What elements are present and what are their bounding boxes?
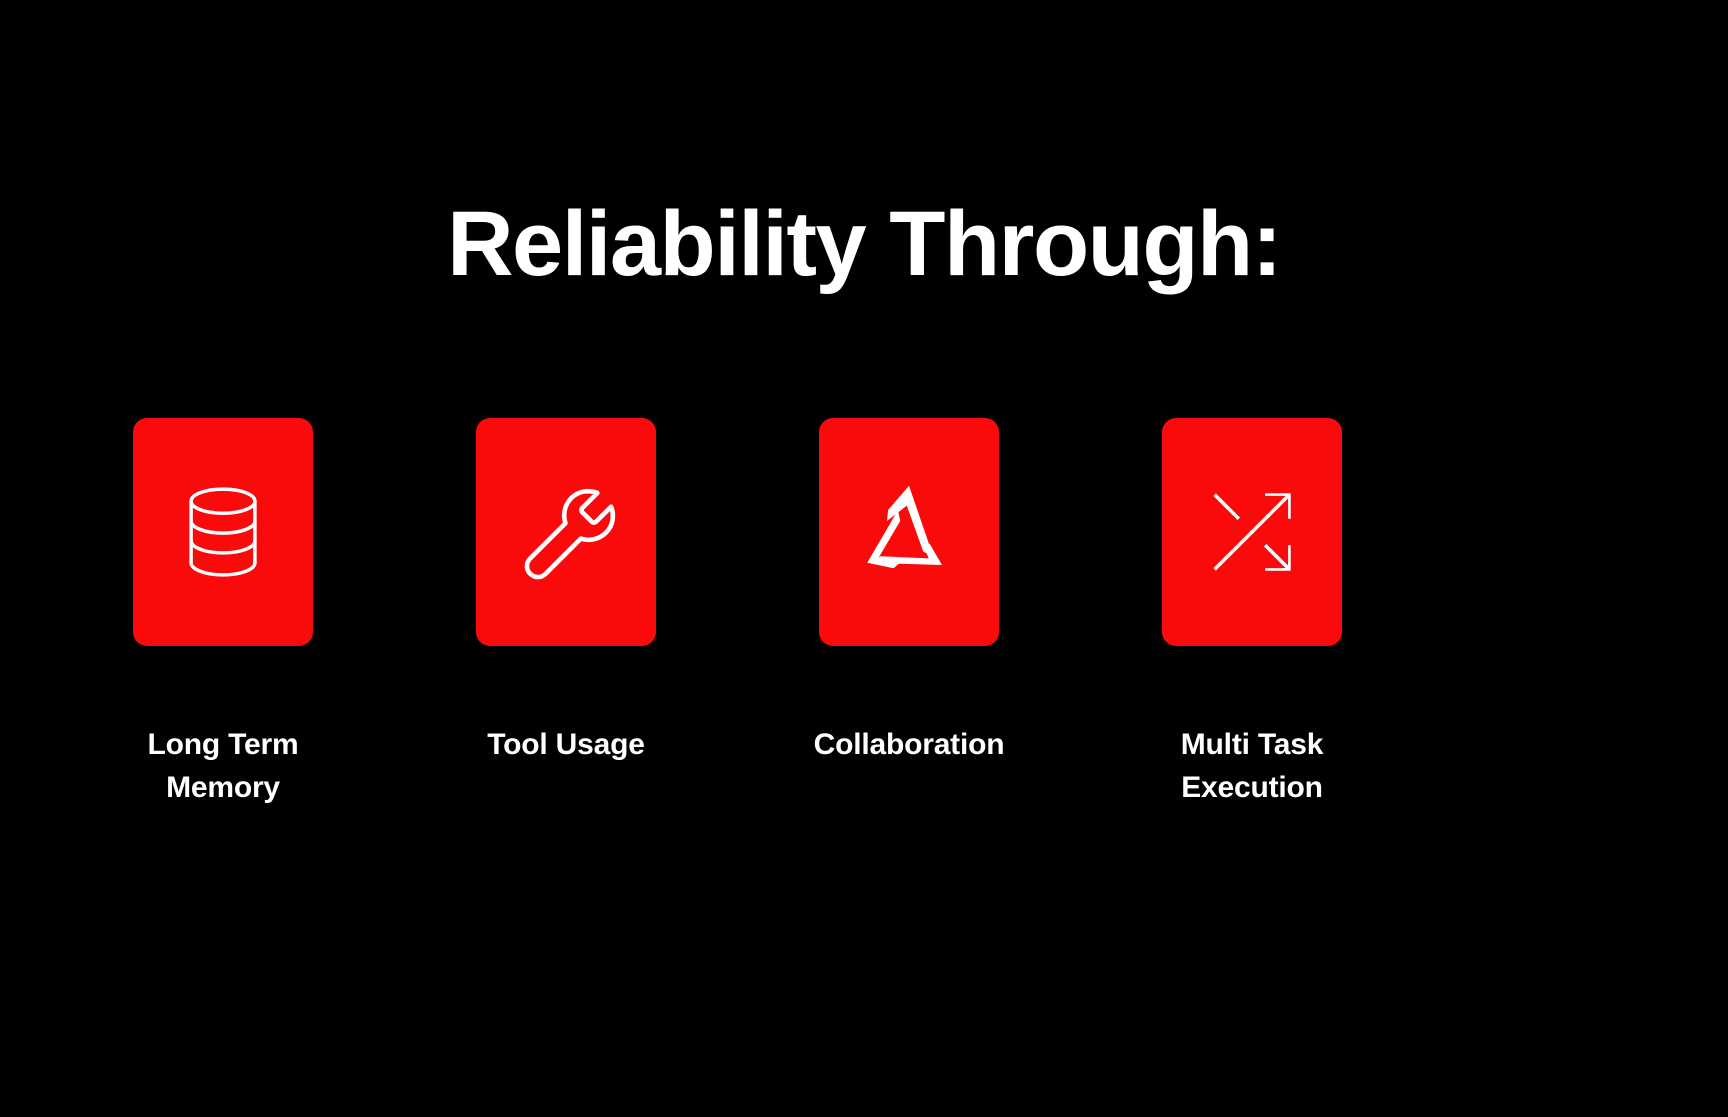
feature-card-label: Tool Usage [451,724,681,767]
feature-card-multi-task-execution[interactable]: Multi Task Execution [1162,418,1342,809]
recycle-triangle-icon [854,477,964,587]
database-icon [168,477,278,587]
feature-card-label: Long Term Memory [108,724,338,809]
wrench-icon [511,477,621,587]
feature-card-long-term-memory[interactable]: Long Term Memory [133,418,313,809]
feature-card-label: Collaboration [794,724,1024,767]
icon-tile-tool-usage[interactable] [476,418,656,646]
feature-card-row: Long Term Memory Tool Usage [133,418,1595,809]
slide-root: Reliability Through: Long Term Memory [0,0,1728,1117]
page-title: Reliability Through: [0,196,1728,293]
icon-tile-multi-task-execution[interactable] [1162,418,1342,646]
shuffle-arrows-icon [1197,477,1307,587]
feature-card-label: Multi Task Execution [1137,724,1367,809]
feature-card-collaboration[interactable]: Collaboration [819,418,999,767]
icon-tile-long-term-memory[interactable] [133,418,313,646]
icon-tile-collaboration[interactable] [819,418,999,646]
feature-card-tool-usage[interactable]: Tool Usage [476,418,656,767]
